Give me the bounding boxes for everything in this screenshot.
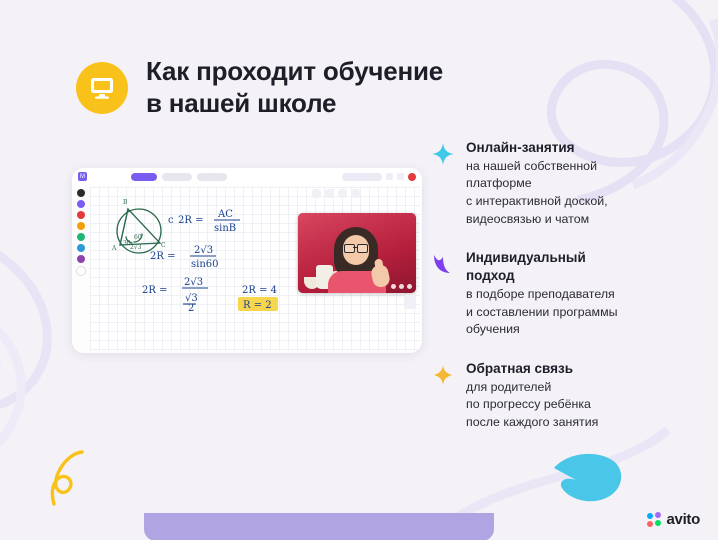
tool-pen-orange[interactable] <box>77 222 85 230</box>
toolbar-square-icon[interactable] <box>386 173 393 180</box>
monitor-mockup: M <box>72 168 422 353</box>
svg-text:A: A <box>111 245 117 252</box>
tool-eraser[interactable] <box>76 266 86 276</box>
svg-text:2R =: 2R = <box>150 251 175 262</box>
feature-line: в подборе преподавателя <box>466 286 618 304</box>
feature-line: после каждого занятия <box>466 414 598 432</box>
svg-text:2√3: 2√3 <box>184 277 203 288</box>
app-toolbar: M <box>72 168 422 186</box>
record-button[interactable] <box>408 173 416 181</box>
swirl-decor-yellow <box>42 446 102 510</box>
swoosh-icon <box>430 250 456 339</box>
plus-icon <box>430 361 456 432</box>
feature-title-second-line: подход <box>466 268 618 285</box>
teacher-video-window[interactable] <box>298 213 416 293</box>
toolbar-pill-active[interactable] <box>131 173 157 181</box>
monitor-chin <box>144 513 494 540</box>
avito-dots-icon <box>647 512 662 527</box>
avito-logo: avito <box>647 511 700 528</box>
feature-line: на нашей собственной <box>466 158 608 176</box>
sparkle-icon <box>430 140 456 228</box>
feature-line: с интерактивной доской, <box>466 193 608 211</box>
feature-line: и составлении программы <box>466 304 618 322</box>
feature-item-online: Онлайн-занятия на нашей собственной плат… <box>430 140 692 228</box>
feature-line: платформе <box>466 175 608 193</box>
svg-text:2R =: 2R = <box>178 215 203 226</box>
poster-canvas: Как проходит обучение в нашей школе M <box>0 0 718 540</box>
tool-palette[interactable] <box>75 189 87 276</box>
svg-text:R = 2: R = 2 <box>243 300 272 311</box>
svg-text:60: 60 <box>134 234 142 241</box>
blue-blob-decor <box>550 450 630 506</box>
tool-pen-blue[interactable] <box>77 244 85 252</box>
monitor-icon <box>76 62 128 114</box>
tool-pen-red[interactable] <box>77 211 85 219</box>
feature-list: Онлайн-занятия на нашей собственной плат… <box>430 140 692 454</box>
video-collapse-tab[interactable] <box>404 295 416 309</box>
svg-text:2: 2 <box>188 303 194 314</box>
tool-pen-black[interactable] <box>77 189 85 197</box>
feature-title: Онлайн-занятия <box>466 140 608 157</box>
feature-title: Индивидуальный <box>466 250 618 267</box>
svg-text:2R = 4: 2R = 4 <box>242 285 277 296</box>
feature-line: по прогрессу ребёнка <box>466 396 598 414</box>
page-title: Как проходит обучение в нашей школе <box>146 56 443 119</box>
svg-text:sin60: sin60 <box>191 259 219 270</box>
tool-pen-green[interactable] <box>77 233 85 241</box>
feature-title: Обратная связь <box>466 361 598 378</box>
toolbar-chip[interactable] <box>342 173 382 181</box>
toolbar-square-icon-2[interactable] <box>397 173 404 180</box>
toolbar-pill-2[interactable] <box>197 173 227 181</box>
avito-wordmark: avito <box>666 511 700 528</box>
svg-text:c: c <box>168 215 174 226</box>
tool-pen-purple[interactable] <box>77 200 85 208</box>
svg-text:B: B <box>123 199 128 206</box>
feature-line: для родителей <box>466 379 598 397</box>
toolbar-pill-1[interactable] <box>162 173 192 181</box>
page-title-line2: в нашей школе <box>146 88 443 120</box>
svg-text:AC: AC <box>217 209 233 220</box>
feature-item-feedback: Обратная связь для родителей по прогресс… <box>430 361 692 432</box>
video-controls[interactable] <box>391 284 412 289</box>
app-body: B A C 60 30 2√3 c 2R = AC sinB 2R = 2√3 <box>72 185 422 353</box>
svg-text:sinB: sinB <box>214 223 236 234</box>
svg-text:2√3: 2√3 <box>194 245 213 256</box>
feature-line: видеосвязью и чатом <box>466 211 608 229</box>
screen: M <box>72 168 422 353</box>
page-heading: Как проходит обучение в нашей школе <box>76 56 443 119</box>
app-logo-icon: M <box>78 172 87 181</box>
svg-text:C: C <box>161 242 166 249</box>
feature-line: обучения <box>466 321 618 339</box>
page-title-line1: Как проходит обучение <box>146 56 443 88</box>
feature-item-individual: Индивидуальный подход в подборе преподав… <box>430 250 692 339</box>
svg-text:2√3: 2√3 <box>130 244 142 251</box>
tool-pen-violet[interactable] <box>77 255 85 263</box>
svg-text:2R =: 2R = <box>142 285 167 296</box>
